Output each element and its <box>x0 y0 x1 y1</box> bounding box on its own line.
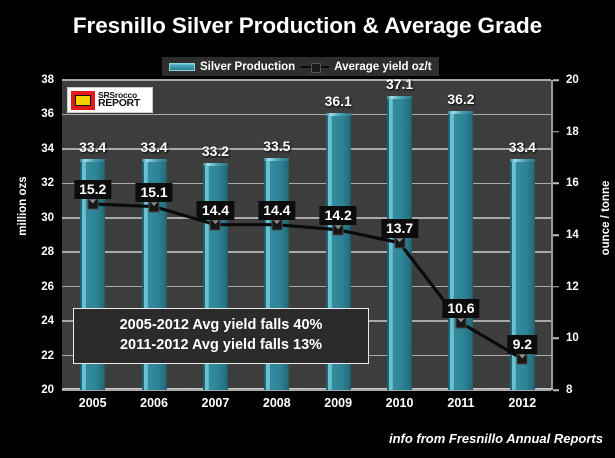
line-value-label: 15.1 <box>135 183 172 202</box>
y-tick-mark-right <box>553 389 559 391</box>
line-value-label: 13.7 <box>381 219 418 238</box>
line-marker <box>455 317 466 328</box>
x-tick-label: 2005 <box>63 396 123 410</box>
y-tick-label-left: 20 <box>14 384 54 396</box>
bar-value-label: 33.4 <box>63 139 123 155</box>
bar-value-label: 36.1 <box>308 93 368 109</box>
y-axis-title-right: ounce / tonne <box>600 168 612 268</box>
logo-line2: REPORT <box>98 99 140 109</box>
bar-value-label: 33.4 <box>124 139 184 155</box>
chart-legend: Silver Production Average yield oz/t <box>162 57 439 76</box>
y-tick-label-left: 24 <box>14 315 54 327</box>
y-tick-mark-right <box>553 183 559 185</box>
y-tick-label-left: 26 <box>14 281 54 293</box>
line-marker <box>149 201 160 212</box>
legend-item-average-yield[interactable]: Average yield oz/t <box>301 61 431 73</box>
line-marker <box>394 237 405 248</box>
line-value-label: 10.6 <box>442 299 479 318</box>
y-tick-label-left: 36 <box>14 108 54 120</box>
annotation-box: 2005-2012 Avg yield falls 40% 2011-2012 … <box>73 308 369 364</box>
y-tick-mark-right <box>553 234 559 236</box>
chart-title: Fresnillo Silver Production & Average Gr… <box>0 13 615 39</box>
annotation-line-2: 2011-2012 Avg yield falls 13% <box>74 336 368 356</box>
bar-value-label: 36.2 <box>431 91 491 107</box>
y-tick-label-right: 8 <box>566 384 596 396</box>
us-map-icon <box>71 91 95 110</box>
x-tick-label: 2007 <box>185 396 245 410</box>
y-tick-label-right: 10 <box>566 332 596 344</box>
line-value-label: 14.4 <box>258 201 295 220</box>
line-marker <box>210 219 221 230</box>
source-note: info from Fresnillo Annual Reports <box>389 431 603 446</box>
bar-value-label: 33.2 <box>185 143 245 159</box>
line-marker-icon <box>301 62 329 72</box>
y-tick-label-left: 22 <box>14 350 54 362</box>
y-tick-label-right: 20 <box>566 74 596 86</box>
bar-value-label: 33.5 <box>247 138 307 154</box>
x-tick-label: 2011 <box>431 396 491 410</box>
legend-item-silver-production[interactable]: Silver Production <box>169 61 295 73</box>
x-tick-label: 2009 <box>308 396 368 410</box>
line-value-label: 15.2 <box>74 180 111 199</box>
y-axis-title-left: million ozs <box>17 161 29 251</box>
x-tick-label: 2012 <box>492 396 552 410</box>
legend-label-average-yield: Average yield oz/t <box>334 61 431 73</box>
line-marker <box>517 354 528 365</box>
y-tick-label-right: 16 <box>566 177 596 189</box>
srsrocco-report-logo: SRSrocco REPORT <box>67 87 153 113</box>
line-marker <box>271 219 282 230</box>
y-tick-label-left: 34 <box>14 143 54 155</box>
y-tick-label-right: 12 <box>566 281 596 293</box>
line-value-label: 9.2 <box>508 335 537 354</box>
bar-swatch-icon <box>169 63 195 71</box>
x-tick-label: 2008 <box>247 396 307 410</box>
bar-value-label: 37.1 <box>370 76 430 92</box>
annotation-line-1: 2005-2012 Avg yield falls 40% <box>74 316 368 336</box>
y-tick-label-right: 14 <box>566 229 596 241</box>
x-tick-label: 2010 <box>370 396 430 410</box>
y-tick-mark-right <box>553 286 559 288</box>
plot-area: 33.433.433.233.536.137.136.233.4 15.215.… <box>62 80 553 390</box>
y-tick-mark-right <box>553 79 559 81</box>
x-tick-label: 2006 <box>124 396 184 410</box>
legend-label-silver-production: Silver Production <box>200 61 295 73</box>
bar-value-label: 33.4 <box>492 139 552 155</box>
line-marker <box>333 224 344 235</box>
line-value-label: 14.4 <box>197 201 234 220</box>
chart-container: Fresnillo Silver Production & Average Gr… <box>0 0 615 458</box>
line-marker <box>87 199 98 210</box>
line-value-label: 14.2 <box>320 206 357 225</box>
y-tick-mark-right <box>553 131 559 133</box>
y-tick-mark-right <box>553 338 559 340</box>
y-tick-label-left: 38 <box>14 74 54 86</box>
y-tick-label-right: 18 <box>566 126 596 138</box>
